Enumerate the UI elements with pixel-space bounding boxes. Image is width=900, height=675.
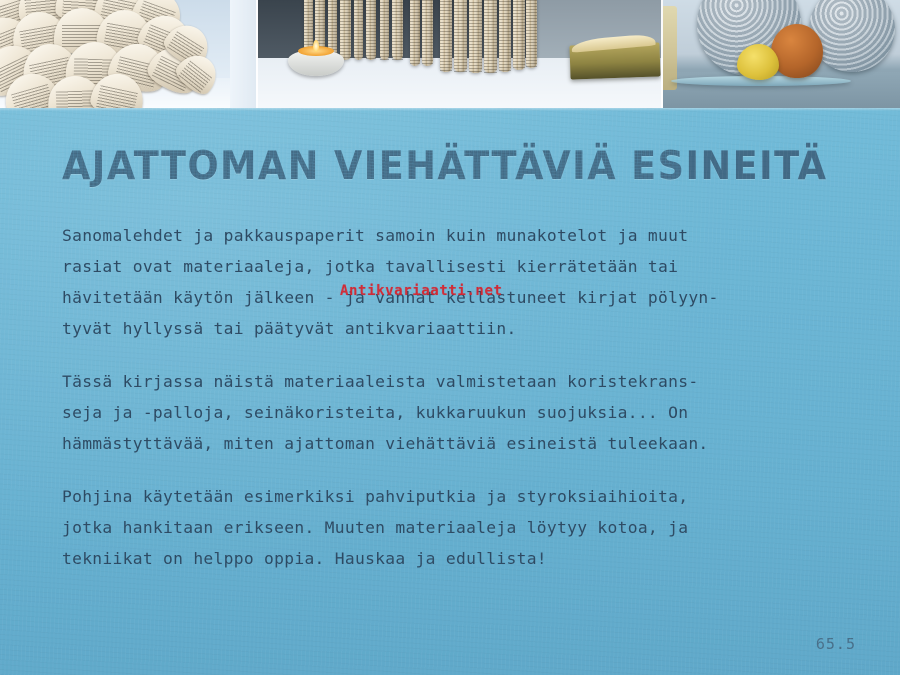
photo3-jar <box>663 6 677 90</box>
photo-paper-cone-wreath <box>0 0 258 112</box>
page-title: AJATTOMAN VIEHÄTTÄVIÄ ESINEITÄ <box>62 144 827 189</box>
text-line: seja ja -palloja, seinäkoristeita, kukka… <box>62 397 858 428</box>
photo-textured-spheres-gourds <box>663 0 900 112</box>
text-line: Pohjina käytetään esimerkiksi pahviputki… <box>62 481 858 512</box>
text-line: rasiat ovat materiaaleja, jotka tavallis… <box>62 251 858 282</box>
text-line: tyvät hyllyssä tai päätyvät antikvariaat… <box>62 313 858 344</box>
page-number: 65.5 <box>816 635 856 653</box>
text-line: Sanomalehdet ja pakkauspaperit samoin ku… <box>62 220 858 251</box>
text-line: tekniikat on helppo oppia. Hauskaa ja ed… <box>62 543 858 574</box>
gourd-yellow <box>737 44 779 80</box>
paper-top-edge <box>0 108 900 111</box>
old-book <box>569 42 660 79</box>
body-text: Sanomalehdet ja pakkauspaperit samoin ku… <box>62 220 858 574</box>
page-root: AJATTOMAN VIEHÄTTÄVIÄ ESINEITÄ Sanomaleh… <box>0 0 900 675</box>
blue-paper-card: AJATTOMAN VIEHÄTTÄVIÄ ESINEITÄ Sanomaleh… <box>0 108 900 675</box>
paragraph-3: Pohjina käytetään esimerkiksi pahviputki… <box>62 481 858 574</box>
text-line: Tässä kirjassa näistä materiaaleista val… <box>62 366 858 397</box>
paper-cone-cluster <box>0 0 258 112</box>
gourd-orange <box>771 24 823 78</box>
watermark-antikvariaatti: Antikvariaatti.net <box>340 283 503 299</box>
text-line: hämmästyttävää, miten ajattoman viehättä… <box>62 428 858 459</box>
paragraph-2: Tässä kirjassa näistä materiaaleista val… <box>62 366 858 459</box>
text-line: jotka hankitaan erikseen. Muuten materia… <box>62 512 858 543</box>
top-photo-band <box>0 0 900 112</box>
photo-rolled-paper-candleholders <box>258 0 663 112</box>
paragraph-1: Sanomalehdet ja pakkauspaperit samoin ku… <box>62 220 858 344</box>
